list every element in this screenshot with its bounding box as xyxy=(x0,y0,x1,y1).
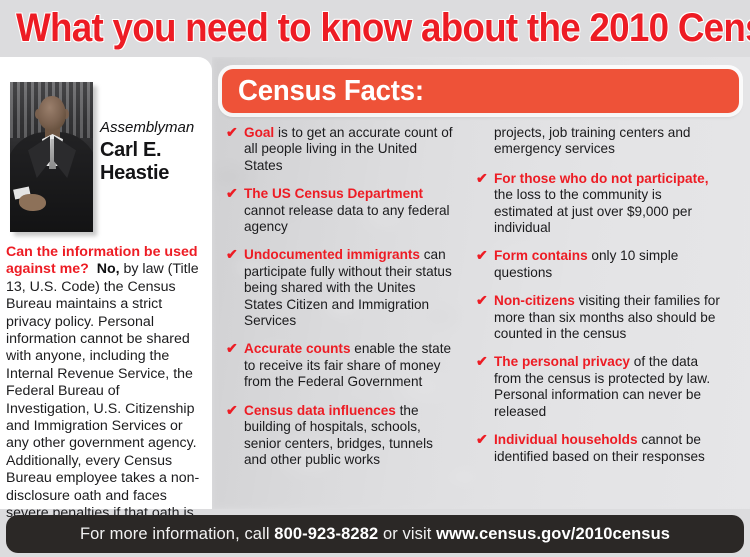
fact-lead: Census data influences xyxy=(244,403,396,418)
check-icon: ✔ xyxy=(476,292,488,308)
check-icon: ✔ xyxy=(226,246,238,262)
fact-item: ✔Form contains only 10 simple questions xyxy=(476,248,724,281)
fact-lead: Goal xyxy=(244,125,274,140)
footer-website[interactable]: www.census.gov/2010census xyxy=(436,525,670,543)
portrait-hand xyxy=(19,194,46,211)
facts-column-right: projects, job training centers and emerg… xyxy=(476,125,724,477)
fact-lead: Undocumented immigrants xyxy=(244,247,420,262)
footer-prefix: For more information, call xyxy=(80,525,274,543)
census-facts-banner-label: Census Facts: xyxy=(238,73,424,109)
role-label: Assemblyman xyxy=(100,119,208,137)
privacy-note: Can the information be used against me? … xyxy=(6,244,206,540)
check-icon: ✔ xyxy=(226,124,238,140)
fact-item: ✔Accurate counts enable the state to rec… xyxy=(226,341,454,390)
footer-bar: For more information, call 800-923-8282 … xyxy=(6,515,744,553)
privacy-note-emphasis: No, xyxy=(97,261,120,277)
fact-item: ✔Undocumented immigrants can participate… xyxy=(226,247,454,329)
poster-header: What you need to know about the 2010 Cen… xyxy=(0,0,750,57)
fact-item: ✔Census data influences the building of … xyxy=(226,403,454,469)
assemblyman-name-block: Assemblyman Carl E. Heastie xyxy=(100,119,208,185)
fact-lead: Form contains xyxy=(494,248,588,263)
sidebar-panel: Assemblyman Carl E. Heastie Can the info… xyxy=(0,57,212,509)
footer-contact-text: For more information, call 800-923-8282 … xyxy=(6,524,744,544)
privacy-note-body: by law (Title 13, U.S. Code) the Census … xyxy=(6,261,199,538)
fact-lead: Non-citizens xyxy=(494,293,575,308)
check-icon: ✔ xyxy=(476,431,488,447)
check-icon: ✔ xyxy=(476,170,488,186)
fact-body: is to get an accurate count of all peopl… xyxy=(244,125,453,173)
check-icon: ✔ xyxy=(226,340,238,356)
check-icon: ✔ xyxy=(226,185,238,201)
fact-item: ✔Goal is to get an accurate count of all… xyxy=(226,125,454,174)
check-icon: ✔ xyxy=(476,353,488,369)
facts-panel: Census Facts: ✔Goal is to get an accurat… xyxy=(212,57,750,509)
fact-item-continued: projects, job training centers and emerg… xyxy=(476,125,724,158)
page-title: What you need to know about the 2010 Cen… xyxy=(16,2,684,54)
official-name: Carl E. Heastie xyxy=(100,139,208,185)
fact-lead: Accurate counts xyxy=(244,341,351,356)
facts-column-left: ✔Goal is to get an accurate count of all… xyxy=(226,125,454,480)
check-icon: ✔ xyxy=(226,402,238,418)
fact-item: ✔For those who do not participate, the l… xyxy=(476,171,724,237)
fact-item: ✔Individual households cannot be identif… xyxy=(476,432,724,465)
footer-middle: or visit xyxy=(378,525,436,543)
fact-item: ✔The US Census Department cannot release… xyxy=(226,186,454,235)
census-infographic-poster: What you need to know about the 2010 Cen… xyxy=(0,0,750,557)
check-icon: ✔ xyxy=(476,247,488,263)
census-facts-banner: Census Facts: xyxy=(222,69,739,113)
fact-lead: For those who do not participate, xyxy=(494,171,708,186)
footer-phone[interactable]: 800-923-8282 xyxy=(274,525,378,543)
fact-item: ✔The personal privacy of the data from t… xyxy=(476,354,724,420)
portrait-head xyxy=(38,96,66,130)
assemblyman-portrait xyxy=(10,82,93,232)
portrait-image xyxy=(10,82,93,232)
fact-body: cannot release data to any federal agenc… xyxy=(244,203,450,234)
fact-item: ✔Non-citizens visiting their families fo… xyxy=(476,293,724,342)
fact-lead: Individual households xyxy=(494,432,638,447)
fact-lead: The US Census Department xyxy=(244,186,423,201)
fact-body: the loss to the community is estimated a… xyxy=(494,187,692,235)
fact-lead: The personal privacy xyxy=(494,354,630,369)
